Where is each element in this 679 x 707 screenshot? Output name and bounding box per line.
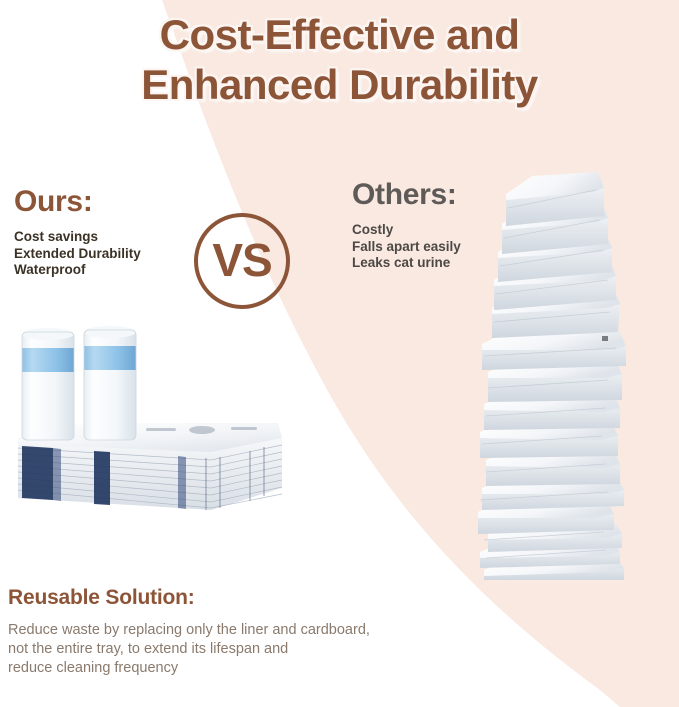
body-line: not the entire tray, to extend its lifes… (8, 640, 458, 659)
page-title: Cost-Effective and Enhanced Durability (0, 10, 679, 110)
title-line-2: Enhanced Durability (0, 60, 679, 110)
others-drawback-list: Costly Falls apart easily Leaks cat urin… (352, 222, 542, 272)
ours-benefit-list: Cost savings Extended Durability Waterpr… (14, 229, 214, 279)
reusable-solution-block: Reusable Solution: Reduce waste by repla… (8, 586, 458, 678)
reusable-solution-heading: Reusable Solution: (8, 586, 458, 610)
ours-column: Ours: Cost savings Extended Durability W… (14, 185, 214, 279)
reusable-solution-body: Reduce waste by replacing only the liner… (8, 621, 458, 678)
list-item: Costly (352, 222, 542, 239)
others-heading: Others: (352, 178, 542, 212)
list-item: Falls apart easily (352, 239, 542, 256)
list-item: Leaks cat urine (352, 255, 542, 272)
others-column: Others: Costly Falls apart easily Leaks … (352, 178, 542, 272)
list-item: Extended Durability (14, 246, 214, 263)
liner-roll-right (84, 326, 136, 440)
list-item: Cost savings (14, 229, 214, 246)
title-line-1: Cost-Effective and (0, 10, 679, 60)
liner-roll-left (22, 328, 74, 440)
infographic-poster: Cost-Effective and Enhanced Durability O… (0, 0, 679, 707)
vs-badge-label: VS (212, 237, 271, 283)
vs-badge: VS (194, 213, 290, 309)
ours-heading: Ours: (14, 185, 214, 219)
list-item: Waterproof (14, 262, 214, 279)
body-line: Reduce waste by replacing only the liner… (8, 621, 458, 640)
ours-product-image (6, 320, 296, 520)
body-line: reduce cleaning frequency (8, 659, 458, 678)
